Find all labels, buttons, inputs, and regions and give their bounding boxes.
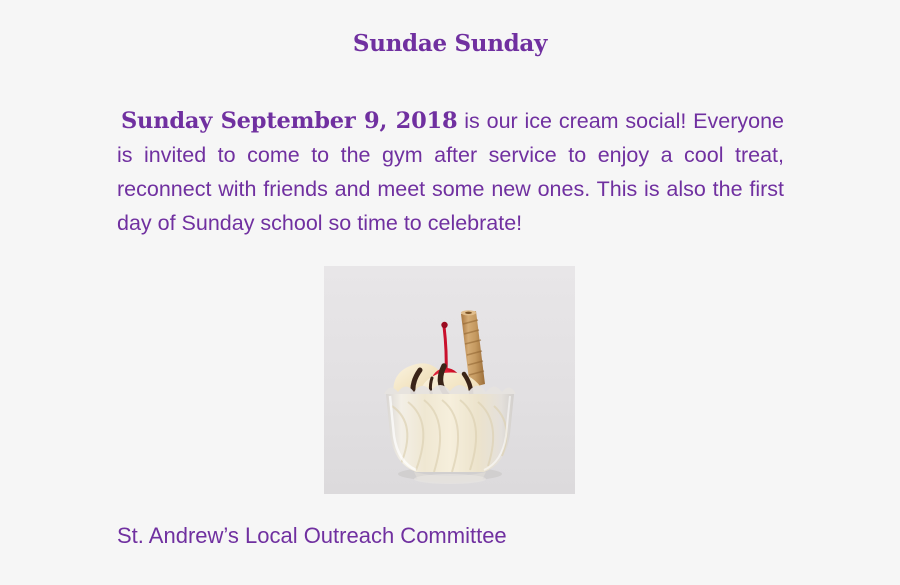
sundae-photo	[324, 266, 575, 494]
committee-signature: St. Andrew’s Local Outreach Committee	[117, 522, 507, 550]
sundae-illustration	[324, 266, 575, 494]
page-title: Sundae Sunday	[0, 31, 900, 56]
event-date-text: Sunday September 9, 2018	[117, 108, 457, 134]
flyer-page: Sundae Sunday Sunday September 9, 2018 i…	[0, 0, 900, 585]
announcement-paragraph: Sunday September 9, 2018 is our ice crea…	[117, 104, 784, 240]
cherry-stem-tip	[441, 322, 447, 328]
